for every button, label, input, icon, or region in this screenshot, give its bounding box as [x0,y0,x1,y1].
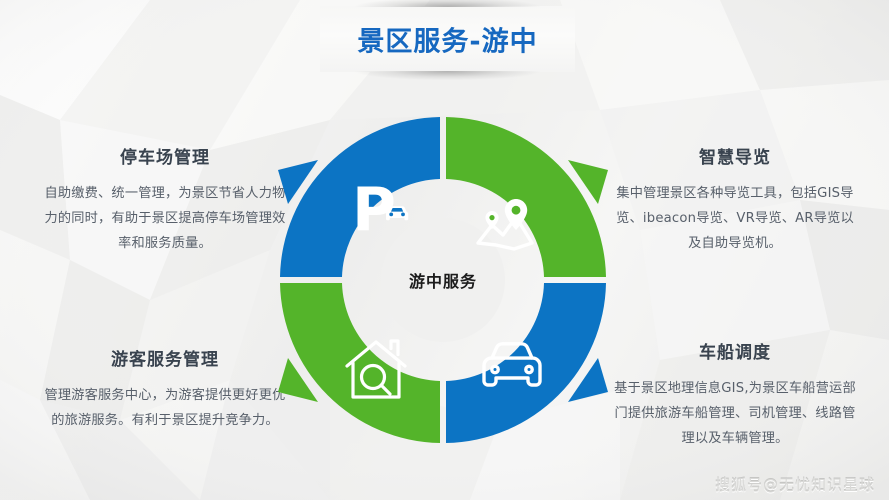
section-body: 基于景区地理信息GIS,为景区车船营运部门提供旅游车船管理、司机管理、线路管理以… [612,376,858,451]
hub-label: 游中服务 [280,268,606,292]
donut-diagram: P [280,117,606,443]
section-title: 车船调度 [612,338,858,363]
section-body: 集中管理景区各种导览工具，包括GIS导览、ibeacon导览、VR导览、AR导览… [612,181,858,256]
section-vehicle-boat-dispatch: 车船调度 基于景区地理信息GIS,为景区车船营运部门提供旅游车船管理、司机管理、… [612,338,858,451]
pointer-bottom-right [566,352,614,404]
section-visitor-service-management: 游客服务管理 管理游客服务中心，为游客提供更好更优的旅游服务。有利于景区提升竞争… [42,345,288,433]
pointer-top-left [272,158,320,210]
section-parking-management: 停车场管理 自助缴费、统一管理，为景区节省人力物力的同时，有助于景区提高停车场管… [42,143,288,256]
pointer-bottom-left [272,352,320,404]
title-plate: 景区服务-游中 [320,6,575,72]
watermark: 搜狐号@无忧知识星球 [715,474,875,495]
section-body: 管理游客服务中心，为游客提供更好更优的旅游服务。有利于景区提升竞争力。 [42,383,288,433]
slide-canvas: 景区服务-游中 停车场管理 自助缴费、统一管理，为景区节省人力物力的同时，有助于… [0,0,889,500]
section-title: 智慧导览 [612,143,858,168]
section-title: 游客服务管理 [42,345,288,370]
page-title: 景区服务-游中 [320,20,575,59]
section-body: 自助缴费、统一管理，为景区节省人力物力的同时，有助于景区提高停车场管理效率和服务… [42,181,288,256]
section-title: 停车场管理 [42,143,288,168]
section-smart-guide: 智慧导览 集中管理景区各种导览工具，包括GIS导览、ibeacon导览、VR导览… [612,143,858,256]
pointer-top-right [566,158,614,210]
